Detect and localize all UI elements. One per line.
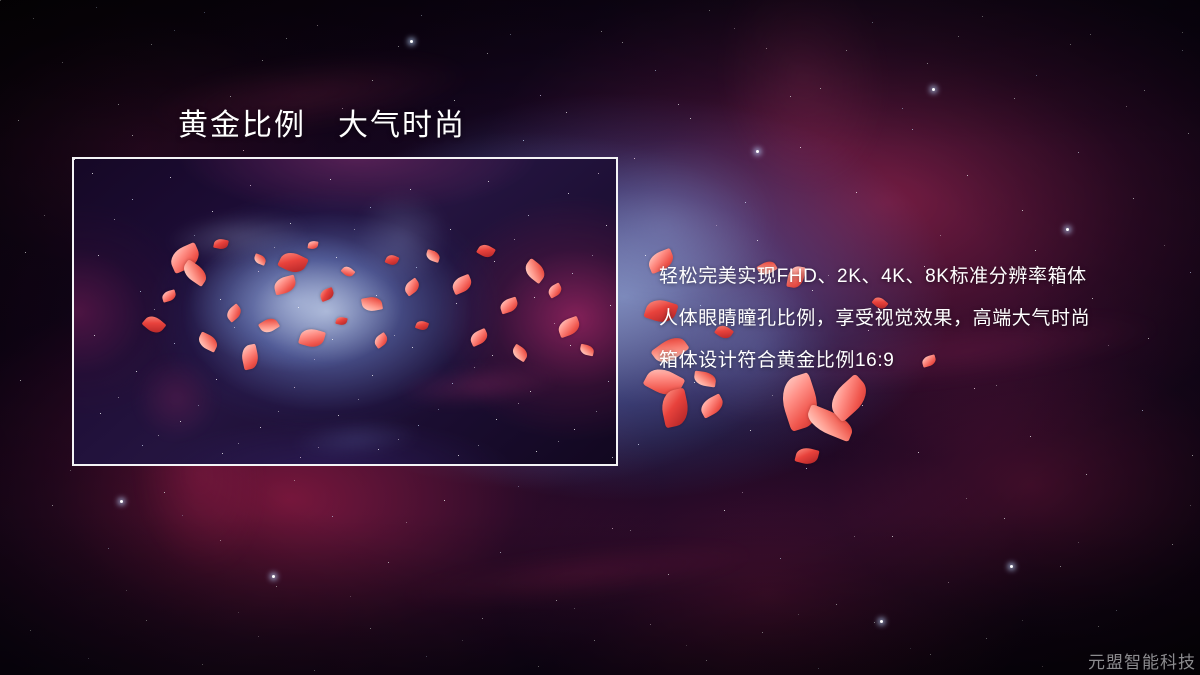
presentation-slide: 黄金比例 大气时尚 轻松完美实现FHD、2K、4K、8K标准分辨率箱体 人体眼睛… — [0, 0, 1200, 675]
body-text-block: 轻松完美实现FHD、2K、4K、8K标准分辨率箱体 人体眼睛瞳孔比例，享受视觉效… — [659, 256, 1179, 382]
watermark: 元盟智能科技 — [1088, 648, 1196, 673]
page-title: 黄金比例 大气时尚 — [178, 100, 466, 144]
body-text-line-1: 轻松完美实现FHD、2K、4K、8K标准分辨率箱体 — [659, 256, 1179, 298]
body-text-line-3: 箱体设计符合黄金比例16:9 — [659, 340, 1179, 382]
bright-star-icon — [880, 620, 883, 623]
framed-photo — [72, 157, 618, 466]
photo-nebula-wisps — [74, 159, 616, 464]
bright-star-icon — [1010, 565, 1013, 568]
bright-star-icon — [272, 575, 275, 578]
bright-star-icon — [756, 150, 759, 153]
bright-star-icon — [120, 500, 123, 503]
body-text-line-2: 人体眼睛瞳孔比例，享受视觉效果，高端大气时尚 — [659, 298, 1179, 340]
bright-star-icon — [410, 40, 413, 43]
photo-starfield-faint — [74, 159, 75, 160]
bright-star-icon — [932, 88, 935, 91]
bright-star-icon — [1066, 228, 1069, 231]
framed-photo-content — [74, 159, 616, 464]
